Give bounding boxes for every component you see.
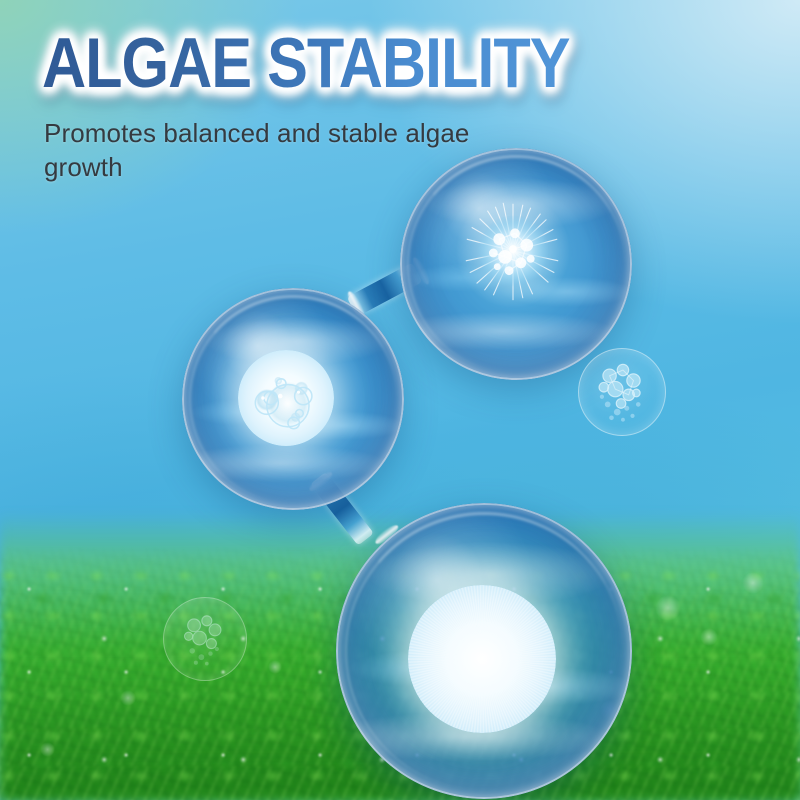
bubble-inner-swirl: [336, 503, 632, 799]
core-light-rays: [408, 585, 556, 733]
bubble-rim-light: [407, 155, 625, 373]
floating-microbe-right: [578, 348, 666, 436]
bubble-glow-cell[interactable]: [336, 503, 632, 799]
bubble-cluster-core: [238, 350, 334, 446]
microbe-core-icon: [454, 192, 572, 310]
page-title: ALGAE STABILITY: [42, 28, 570, 99]
banner-canvas: ALGAE STABILITY Promotes balanced and st…: [0, 0, 800, 800]
bubble-cluster-cell[interactable]: [182, 288, 404, 510]
bubble-glow-core: [408, 585, 556, 733]
bubble-rim-light: [189, 295, 398, 504]
bubble-inner-swirl: [182, 288, 404, 510]
bubble-rim-light: [345, 512, 623, 790]
floating-microbe-bottom-left: [163, 597, 247, 681]
page-subtitle: Promotes balanced and stable algae growt…: [44, 116, 474, 185]
core-microbubbles: [238, 350, 334, 446]
